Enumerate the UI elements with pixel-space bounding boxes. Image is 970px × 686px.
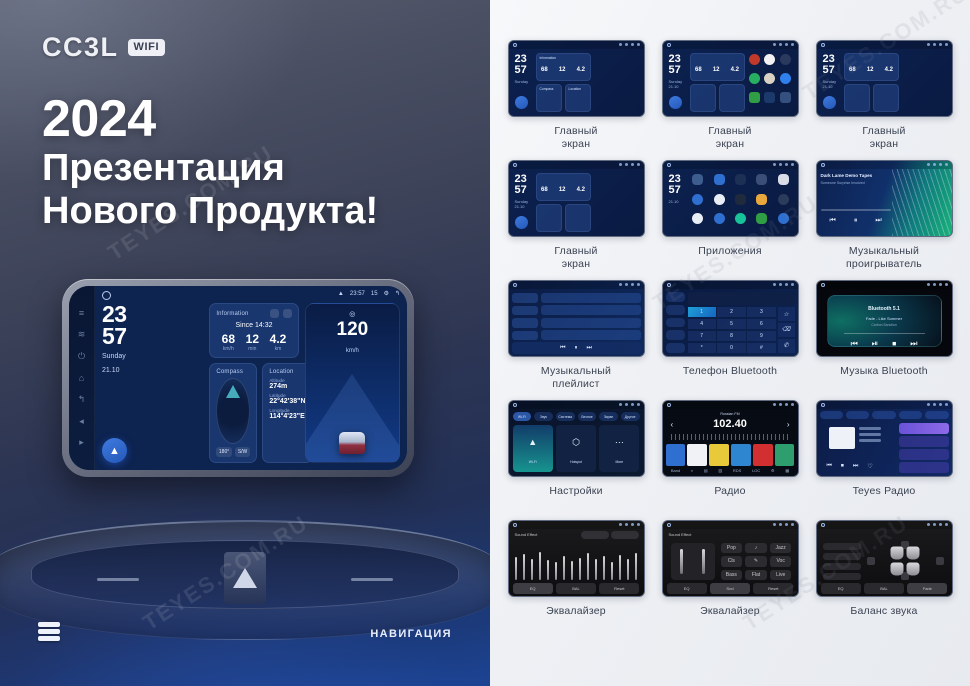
album-art-icon [829, 427, 855, 449]
dial-key-hash[interactable]: # [747, 343, 775, 353]
rail-back-icon[interactable]: ↰ [77, 395, 86, 404]
tile-home-screen-apps[interactable]: 2357 Sunday21.10 68124.2 [658, 40, 802, 160]
eq-tab-bar[interactable]: EQ BAL Reset [513, 583, 640, 594]
volume-level: 15 [371, 291, 378, 297]
stat-speed-value: 68 [222, 332, 235, 346]
eq-tab-eq[interactable]: EQ [513, 583, 553, 594]
altitude-value: 274m [269, 383, 305, 390]
eq-preset-pads[interactable]: Pop ♪ Jazz Cls ✎ Voc Bass Flat Live [721, 543, 792, 580]
left-hero-panel: CC3L WIFI 2024 Презентация Нового Продук… [0, 0, 490, 686]
tile-caption-line-1: Баланс звука [850, 605, 917, 618]
clock-day: Sunday [102, 352, 203, 361]
thumb-nav-fab-icon [823, 96, 836, 109]
pause-icon[interactable]: ⏸ [854, 217, 858, 225]
head-unit-screen: ≡ ≋ ⏻ ⌂ ↰ ◂ ▸ ▲ 23:57 15 [69, 286, 407, 470]
compass-title: Compass [216, 369, 250, 375]
tile-music-player[interactable]: Dark Lame Demo Tapes Someone Surprise In… [812, 160, 956, 280]
prev-icon[interactable]: ⏮ [560, 345, 565, 352]
preset-live[interactable]: Live [770, 570, 792, 580]
eq-title: Sound Effect [669, 532, 692, 537]
wifi-badge: WIFI [128, 39, 166, 55]
head-unit-device: ≡ ≋ ⏻ ⌂ ↰ ◂ ▸ ▲ 23:57 15 [62, 279, 414, 477]
backspace-icon[interactable]: ⌫ [778, 323, 795, 337]
phone-actions[interactable]: ☆ ⌫ ✆ [778, 307, 795, 353]
app-icon-contacts [778, 174, 789, 185]
hero-headline: 2024 Презентация Нового Продукта! [42, 92, 378, 234]
next-icon[interactable]: ⏭ [910, 339, 917, 349]
stat-time-value: 12 [246, 332, 259, 346]
thumb-clock: 23 [515, 54, 527, 64]
clock-widget: 23 57 Sunday 21.10 [102, 303, 203, 375]
app-icon-nav [780, 54, 791, 65]
thumbnail-image[interactable]: Russian FM 102.40 ‹ › Band [662, 400, 799, 477]
app-icon-music [764, 92, 775, 103]
prev-icon[interactable]: ⏮ [827, 463, 832, 470]
presentation-page: CC3L WIFI 2024 Презентация Нового Продук… [0, 0, 970, 686]
playlist-transport-bar[interactable]: ⏮ ⏸ ⏭ [512, 342, 641, 354]
app-icon-gallery [778, 194, 789, 205]
clock-date: 21.10 [102, 366, 203, 375]
app-icon-camera [714, 194, 725, 205]
teyes-radio-tabs[interactable] [820, 411, 949, 419]
dial-key-8[interactable]: 8 [717, 331, 745, 341]
eq-tab-bal[interactable]: BAL [864, 583, 904, 594]
settings-chip-system[interactable]: Система [556, 412, 575, 421]
prev-icon[interactable]: ⏮ [851, 339, 858, 349]
progress-bar[interactable] [821, 209, 891, 211]
rds-icon[interactable]: RDS [733, 468, 741, 473]
tile-equalizer-presets[interactable]: Sound Effect Pop ♪ Jazz Cls ✎ Voc Bass F… [658, 520, 802, 640]
radio-frequency: 102.40 [663, 418, 798, 430]
rail-next-icon[interactable]: ▸ [77, 438, 86, 447]
tile-bluetooth-phone[interactable]: 1 2 3 4 5 6 7 8 9 * 0 # ☆ [658, 280, 802, 400]
radio-preset-6[interactable] [775, 444, 795, 466]
brand-name: CC3L [42, 32, 119, 63]
road-column: ◎ 120 km/h [305, 303, 400, 463]
eq-tab-bar[interactable]: EQ BAL Fade [821, 583, 948, 594]
tile-radio[interactable]: Russian FM 102.40 ‹ › Band [658, 400, 802, 520]
compass-dial-icon [216, 378, 250, 444]
vent-slat-left [97, 578, 139, 581]
list-icon[interactable]: ▤ [704, 468, 708, 473]
tile-teyes-radio[interactable]: ⏮ ⏹ ⏭ ♡ Teyes Радио [812, 400, 956, 520]
tile-grid: 23 57 Sunday Information 68124.2 Compass… [504, 40, 956, 640]
bt-track-artist: Carbon Sanction [828, 323, 941, 327]
information-since: Since 14:32 [216, 322, 291, 329]
settings-card-more[interactable]: ⋯More [599, 425, 639, 472]
latitude-value: 22°42'38"N [269, 398, 305, 405]
thumbnail-image[interactable]: Sound Effect EQ BAL Reset [508, 520, 645, 597]
app-icon-bt-music [735, 174, 746, 185]
tile-caption-line-2: экран [554, 138, 597, 151]
status-bar: ▲ 23:57 15 ⚙ ↰ [338, 290, 400, 297]
balance-preset-list[interactable] [823, 543, 861, 580]
dial-key-star[interactable]: * [688, 343, 716, 353]
app-icon-bluetooth [714, 174, 725, 185]
tile-caption-line-1: Телефон Bluetooth [683, 365, 777, 378]
call-icon[interactable]: ✆ [778, 339, 795, 353]
settings-cards[interactable]: ▲Wi-Fi ⬡Hotspot ⋯More [513, 425, 640, 472]
rail-mute-icon[interactable]: ≋ [77, 330, 86, 339]
app-icon-play [749, 92, 760, 103]
preset-vocal[interactable]: Voc [770, 556, 792, 566]
tile-equalizer-bars[interactable]: Sound Effect EQ BAL Reset Экв [504, 520, 648, 640]
app-icon-chat [692, 174, 703, 185]
station-meta [859, 427, 881, 445]
thumb-day: Sunday [515, 79, 529, 84]
tile-caption-line-1: Главный [862, 125, 905, 138]
settings-chip-personal[interactable]: Личное [578, 412, 597, 421]
dashboard-vent [0, 520, 490, 640]
app-icon-spotify [749, 73, 760, 84]
dial-key-1[interactable]: 1 [688, 307, 716, 317]
next-station-icon[interactable]: › [787, 420, 790, 429]
app-drawer-grid [687, 172, 795, 232]
next-icon[interactable]: ⏭ [875, 217, 881, 225]
road-speed-unit: km/h [346, 348, 359, 354]
head-unit-side-rail[interactable]: ≡ ≋ ⏻ ⌂ ↰ ◂ ▸ [69, 286, 95, 470]
thumbnail-image[interactable]: ⏮ ⏸ ⏭ [508, 280, 645, 357]
next-icon[interactable]: ⏭ [853, 463, 858, 470]
thumbnail-image[interactable]: 2357 21.10 [662, 160, 799, 237]
thumbnail-image[interactable]: 2357 Sunday21.10 68124.2 [662, 40, 799, 117]
clock-column: 23 57 Sunday 21.10 ▲ [102, 303, 203, 463]
headline-line-1: Презентация [42, 147, 378, 191]
app-icon-maps [764, 54, 775, 65]
settings-chip-sound[interactable]: Звук [534, 412, 553, 421]
radio-preset-2[interactable] [687, 444, 707, 466]
balance-right-icon[interactable] [936, 557, 944, 565]
eq-band-sliders[interactable] [515, 543, 638, 580]
longitude-value: 114°4'23"E [269, 413, 305, 420]
clock-hours: 23 [102, 303, 203, 325]
tile-bluetooth-music[interactable]: Bluetooth 5.1 Fade - Like Summer Carbon … [812, 280, 956, 400]
brand-lockup: CC3L WIFI [42, 32, 165, 63]
radio-preset-5[interactable] [753, 444, 773, 466]
radio-preset-3[interactable] [709, 444, 729, 466]
prev-station-icon[interactable]: ‹ [671, 420, 674, 429]
navigation-label: НАВИГАЦИЯ [370, 628, 452, 640]
search-icon[interactable]: ⌕ [691, 468, 693, 473]
phone-nav-rail[interactable] [666, 292, 685, 353]
hazard-light-button[interactable] [224, 552, 266, 604]
status-time: 23:57 [350, 291, 365, 297]
thumb-nav-fab-icon [515, 96, 528, 109]
now-playing-artist: Someone Surprise Involved [821, 181, 891, 185]
tile-settings[interactable]: Wi-Fi Звук Система Личное Экран Другое ▲… [504, 400, 648, 520]
thumbnail-image[interactable]: Dark Lame Demo Tapes Someone Surprise In… [816, 160, 953, 237]
eq-tab-bal[interactable]: BAL [556, 583, 596, 594]
thumbnail-image[interactable]: 2357 Sunday21.10 68124.2 120 km/h [508, 160, 645, 237]
bt-track-title: Fade - Like Summer [828, 316, 941, 321]
thumb-app-shortcuts [746, 52, 795, 111]
thumbnail-image[interactable]: Bluetooth 5.1 Fade - Like Summer Carbon … [816, 280, 953, 357]
dial-key-6[interactable]: 6 [747, 319, 775, 329]
tile-caption-line-1: Приложения [698, 245, 761, 258]
clock-minutes: 57 [102, 325, 203, 347]
eq-tab-eq[interactable]: EQ [667, 583, 707, 594]
radio-toolbar[interactable]: Band ⌕ ▤ ▥ RDS LOC ⚙ ▦ [666, 466, 795, 474]
tile-caption-line-2: экран [554, 258, 597, 271]
pause-icon[interactable]: ⏸ [574, 345, 577, 352]
tile-caption-line-1: Главный [554, 245, 597, 258]
tile-caption-line-2: проигрыватель [846, 258, 922, 271]
gear-icon[interactable]: ⚙ [384, 290, 389, 297]
dial-key-0[interactable]: 0 [717, 343, 745, 353]
tile-sound-balance[interactable]: EQ BAL Fade Баланс звука [812, 520, 956, 640]
app-icon-all-apps [780, 92, 791, 103]
eq-tab-fade[interactable]: Fade [907, 583, 947, 594]
radio-presets[interactable] [666, 444, 795, 466]
tile-applications[interactable]: 2357 21.10 [658, 160, 802, 280]
app-icon-mail [780, 73, 791, 84]
eq-title: Sound Effect [515, 532, 538, 537]
eq-icon[interactable]: ▥ [718, 468, 722, 473]
tile-caption-line-1: Главный [554, 125, 597, 138]
information-option-1-icon[interactable] [270, 309, 279, 318]
dial-key-5[interactable]: 5 [717, 319, 745, 329]
tile-caption-line-1: Радио [714, 485, 745, 498]
thumb-clock-min: 57 [515, 65, 527, 75]
play-pause-icon[interactable]: ⏯ [872, 339, 878, 349]
app-icon-filemanager [756, 194, 767, 205]
dial-key-3[interactable]: 3 [747, 307, 775, 317]
tile-caption-line-1: Музыка Bluetooth [840, 365, 928, 378]
settings-card-hotspot[interactable]: ⬡Hotspot [556, 425, 596, 472]
tile-caption-line-1: Настройки [549, 485, 602, 498]
headline-line-2: Нового Продукта! [42, 190, 378, 234]
thumb-location-title: Location [566, 85, 590, 93]
now-playing-track: Dark Lame Demo Tapes [821, 173, 891, 178]
seat-positions[interactable] [891, 546, 920, 575]
tile-caption-line-2: экран [862, 138, 905, 151]
settings-chip-display[interactable]: Экран [599, 412, 618, 421]
radio-band-label: Russian FM [663, 412, 798, 416]
wifi-icon: ▲ [338, 291, 344, 297]
road-view-widget[interactable]: ◎ 120 km/h [305, 303, 400, 463]
settings-icon[interactable]: ⚙ [771, 468, 775, 473]
rail-power-icon[interactable]: ⏻ [77, 352, 86, 361]
eq-tab-sound[interactable]: Snd [710, 583, 750, 594]
rail-volume-up-icon[interactable]: ≡ [77, 309, 86, 318]
preset-jazz[interactable]: Jazz [770, 543, 792, 553]
eq-tab-bar[interactable]: EQ Snd Reset [667, 583, 794, 594]
settings-chip-other[interactable]: Другое [621, 412, 640, 421]
app-icon-calculator [756, 174, 767, 185]
headline-year: 2024 [42, 92, 378, 147]
tile-caption-line-1: Музыкальный [541, 365, 611, 378]
settings-chip-wifi[interactable]: Wi-Fi [513, 412, 532, 421]
tile-caption-line-1: Главный [708, 125, 751, 138]
stat-distance-value: 4.2 [270, 332, 287, 346]
eq-dual-sliders[interactable] [671, 543, 715, 580]
information-title: Information [216, 311, 248, 317]
thumbnail-image[interactable]: Wi-Fi Звук Система Личное Экран Другое ▲… [508, 400, 645, 477]
app-icon-play-store [756, 213, 767, 224]
thumbnail-image[interactable]: Sound Effect Pop ♪ Jazz Cls ✎ Voc Bass F… [662, 520, 799, 597]
rail-home-icon[interactable]: ⌂ [77, 374, 86, 383]
preset-pop[interactable]: Pop [721, 543, 743, 553]
cruise-icon: ◎ [349, 310, 355, 318]
thumb-nav-fab-icon [669, 96, 682, 109]
stop-icon[interactable]: ⏹ [892, 339, 896, 349]
eq-tab-eq[interactable]: EQ [821, 583, 861, 594]
navigation-fab-icon[interactable]: ▲ [102, 438, 127, 463]
settings-card-wifi[interactable]: ▲Wi-Fi [513, 425, 553, 472]
rail-volume-down-icon[interactable]: ◂ [77, 417, 86, 426]
tile-caption-line-1: Teyes Радио [853, 485, 916, 498]
tile-caption-line-1: Музыкальный [846, 245, 922, 258]
eq-tab-reset[interactable]: Reset [753, 583, 793, 594]
next-icon[interactable]: ⏭ [587, 345, 592, 352]
thumbnail-image[interactable]: EQ BAL Fade [816, 520, 953, 597]
road-speed-value: 120 [306, 320, 399, 339]
eq-tab-reset[interactable]: Reset [599, 583, 639, 594]
widget-grid: 23 57 Sunday 21.10 ▲ [102, 303, 400, 463]
tile-home-screen-road[interactable]: 2357 Sunday21.10 68124.2 105 km/h Главны… [812, 40, 956, 160]
eq-preset-buttons[interactable] [581, 531, 639, 539]
tile-home-screen-media[interactable]: 23 57 Sunday Information 68124.2 Compass… [504, 40, 648, 160]
station-list[interactable] [899, 423, 949, 473]
compass-direction: S/W [235, 447, 251, 457]
thumb-nav-fab-icon [515, 216, 528, 229]
preset-bass[interactable]: Bass [721, 570, 743, 580]
bluetooth-version-label: Bluetooth 5.1 [828, 306, 941, 312]
more-icon: ⋯ [599, 437, 639, 448]
thumb-info-title: Information [537, 54, 590, 62]
band-icon[interactable]: Band [671, 468, 680, 473]
balance-left-icon[interactable] [867, 557, 875, 565]
dial-key-7[interactable]: 7 [688, 331, 716, 341]
back-icon[interactable]: ↰ [395, 290, 400, 297]
preset-rock[interactable]: ♪ [745, 543, 767, 553]
app-icon-chrome [692, 194, 703, 205]
settings-tab-chips[interactable]: Wi-Fi Звук Система Личное Экран Другое [513, 412, 640, 421]
stat-time-unit: min [246, 346, 259, 352]
tile-caption-line-1: Эквалайзер [700, 605, 760, 618]
app-icon-browser [764, 73, 775, 84]
head-unit-desktop: ▲ 23:57 15 ⚙ ↰ 23 57 [95, 286, 407, 470]
compass-heading: 180° [216, 447, 232, 457]
vehicle-model-icon [339, 432, 365, 454]
vent-slat-right [351, 578, 393, 581]
stat-speed-unit: km/h [222, 346, 235, 352]
app-icon-settings [778, 213, 789, 224]
audio-wave-graphic [892, 169, 951, 236]
app-icon-google [692, 213, 703, 224]
radio-preset-4[interactable] [731, 444, 751, 466]
tile-caption-line-2: плейлист [541, 378, 611, 391]
radio-preset-1[interactable] [666, 444, 686, 466]
hotspot-icon: ⬡ [556, 437, 596, 448]
phone-number-field[interactable] [688, 292, 795, 305]
tile-music-playlist[interactable]: ⏮ ⏸ ⏭ Музыкальный плейлист [504, 280, 648, 400]
grid-icon[interactable]: ▦ [785, 468, 789, 473]
tile-home-screen-nav[interactable]: 2357 Sunday21.10 68124.2 120 km/h Главны… [504, 160, 648, 280]
tile-caption-line-2: экран [708, 138, 751, 151]
progress-bar[interactable] [844, 333, 925, 334]
app-icon-music [735, 213, 746, 224]
wifi-icon: ▲ [513, 437, 553, 447]
info-column: Information Since 14:32 [209, 303, 298, 463]
thumbnail-image[interactable]: 2357 Sunday21.10 68124.2 105 km/h [816, 40, 953, 117]
tile-caption-line-1: Эквалайзер [546, 605, 606, 618]
thumb-compass-title: Compass [537, 85, 561, 93]
preset-classic[interactable]: Cls [721, 556, 743, 566]
app-icon-maps [714, 213, 725, 224]
layers-icon [38, 622, 60, 642]
playlist-track-rows[interactable] [541, 293, 641, 340]
bluetooth-audio-panel: Bluetooth 5.1 Fade - Like Summer Carbon … [827, 295, 942, 347]
information-option-2-icon[interactable] [283, 309, 292, 318]
dial-key-2[interactable]: 2 [717, 307, 745, 317]
preset-flat[interactable]: Flat [745, 570, 767, 580]
thumbnail-image[interactable]: ⏮ ⏹ ⏭ ♡ [816, 400, 953, 477]
stop-icon[interactable]: ⏹ [841, 463, 844, 470]
screenshot-gallery-panel: TEYES.COM.RU TEYES.COM.RU TEYES.COM.RU 2… [490, 0, 970, 686]
loc-icon[interactable]: LOC [752, 468, 760, 473]
thumbnail-image[interactable]: 23 57 Sunday Information 68124.2 Compass… [508, 40, 645, 117]
stat-distance-unit: km [270, 346, 287, 352]
preset-custom[interactable]: ✎ [745, 556, 767, 566]
information-card[interactable]: Information Since 14:32 [209, 303, 298, 358]
app-icon-youtube [749, 54, 760, 65]
radio-tuning-scale[interactable] [671, 434, 790, 440]
playlist-category-rail[interactable] [512, 293, 538, 340]
dial-pad[interactable]: 1 2 3 4 5 6 7 8 9 * 0 # [688, 307, 776, 353]
favorite-icon[interactable]: ♡ [867, 463, 872, 470]
prev-icon[interactable]: ⏮ [830, 217, 836, 225]
compass-card[interactable]: Compass 180° S/W [209, 363, 257, 463]
thumbnail-image[interactable]: 1 2 3 4 5 6 7 8 9 * 0 # ☆ [662, 280, 799, 357]
balance-stage[interactable] [867, 541, 944, 580]
location-title: Location [269, 369, 305, 375]
favorite-icon[interactable]: ☆ [778, 307, 795, 321]
app-icon-dvr [735, 194, 746, 205]
home-icon[interactable] [102, 291, 111, 300]
dial-key-9[interactable]: 9 [747, 331, 775, 341]
dial-key-4[interactable]: 4 [688, 319, 716, 329]
